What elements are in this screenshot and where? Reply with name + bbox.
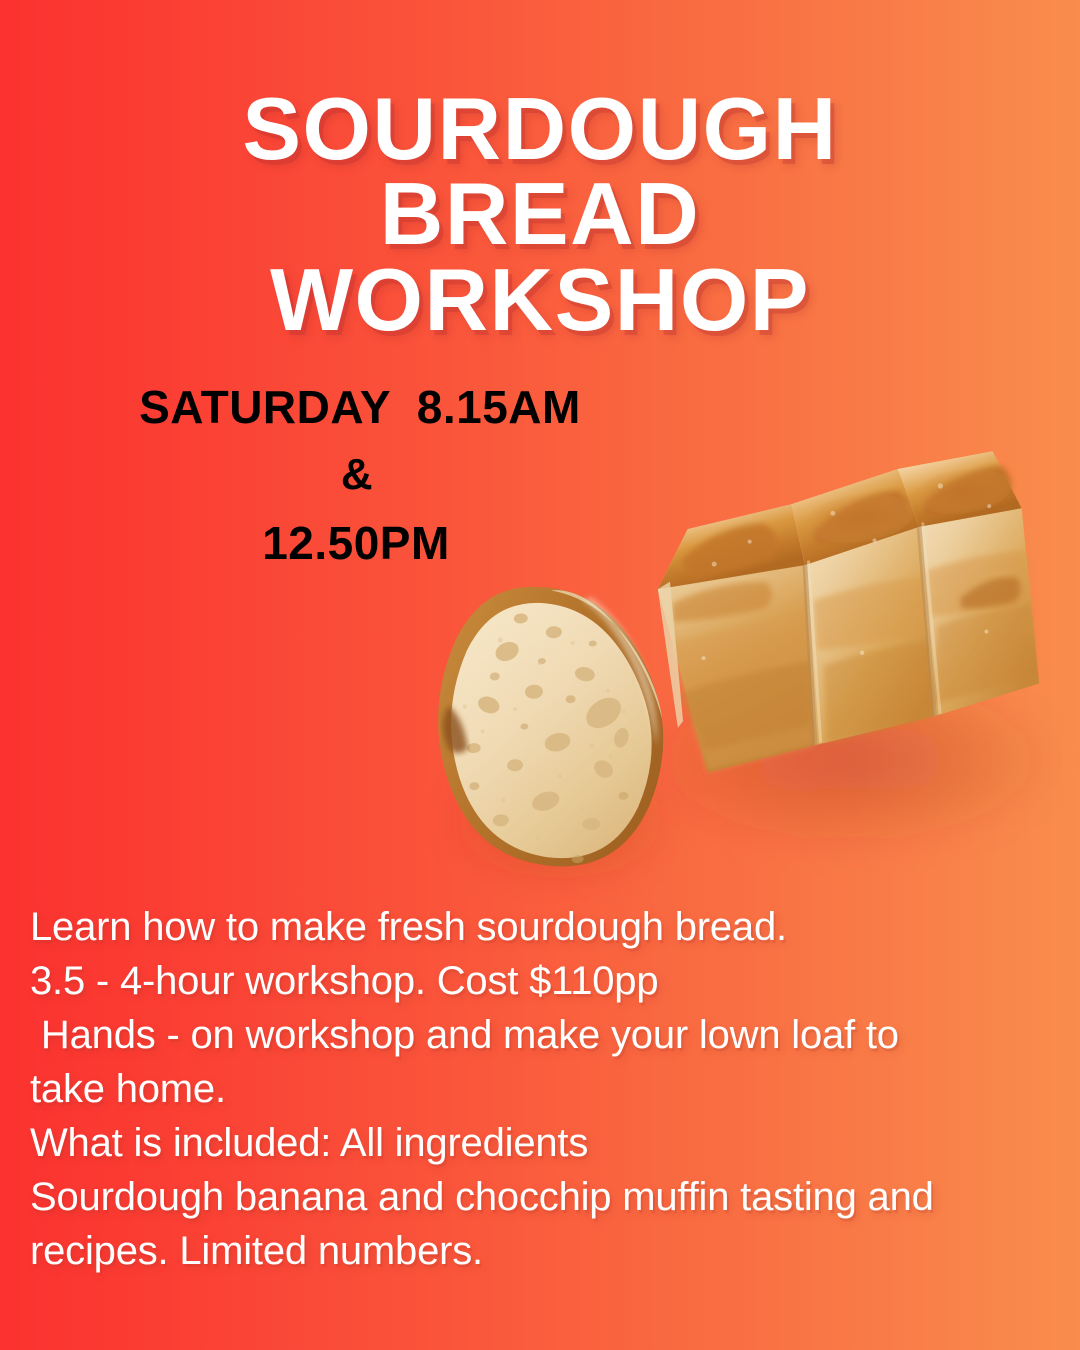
title-line-1: SOURDOUGH — [0, 86, 1080, 171]
title-line-2: BREAD — [0, 171, 1080, 256]
body-line-6: Sourdough banana and chocchip muffin tas… — [30, 1170, 1050, 1224]
poster-title: SOURDOUGH BREAD WORKSHOP — [0, 86, 1080, 342]
schedule-line-second-time: 12.50PM — [0, 516, 720, 570]
body-line-2: 3.5 - 4-hour workshop. Cost $110pp — [30, 954, 1050, 1008]
schedule-line-day-time: SATURDAY 8.15AM — [0, 380, 720, 434]
body-line-5: What is included: All ingredients — [30, 1116, 1050, 1170]
body-line-1: Learn how to make fresh sourdough bread. — [30, 900, 1050, 954]
body-line-3: Hands - on workshop and make your lown l… — [30, 1008, 1050, 1062]
schedule-line-ampersand: & — [0, 450, 720, 500]
body-line-7: recipes. Limited numbers. — [30, 1224, 1050, 1278]
title-line-3: WORKSHOP — [0, 257, 1080, 342]
poster-body-copy: Learn how to make fresh sourdough bread.… — [30, 900, 1050, 1278]
poster-canvas: SOURDOUGH BREAD WORKSHOP SATURDAY 8.15AM… — [0, 0, 1080, 1350]
body-line-4: take home. — [30, 1062, 1050, 1116]
schedule-block: SATURDAY 8.15AM & 12.50PM — [0, 380, 720, 570]
